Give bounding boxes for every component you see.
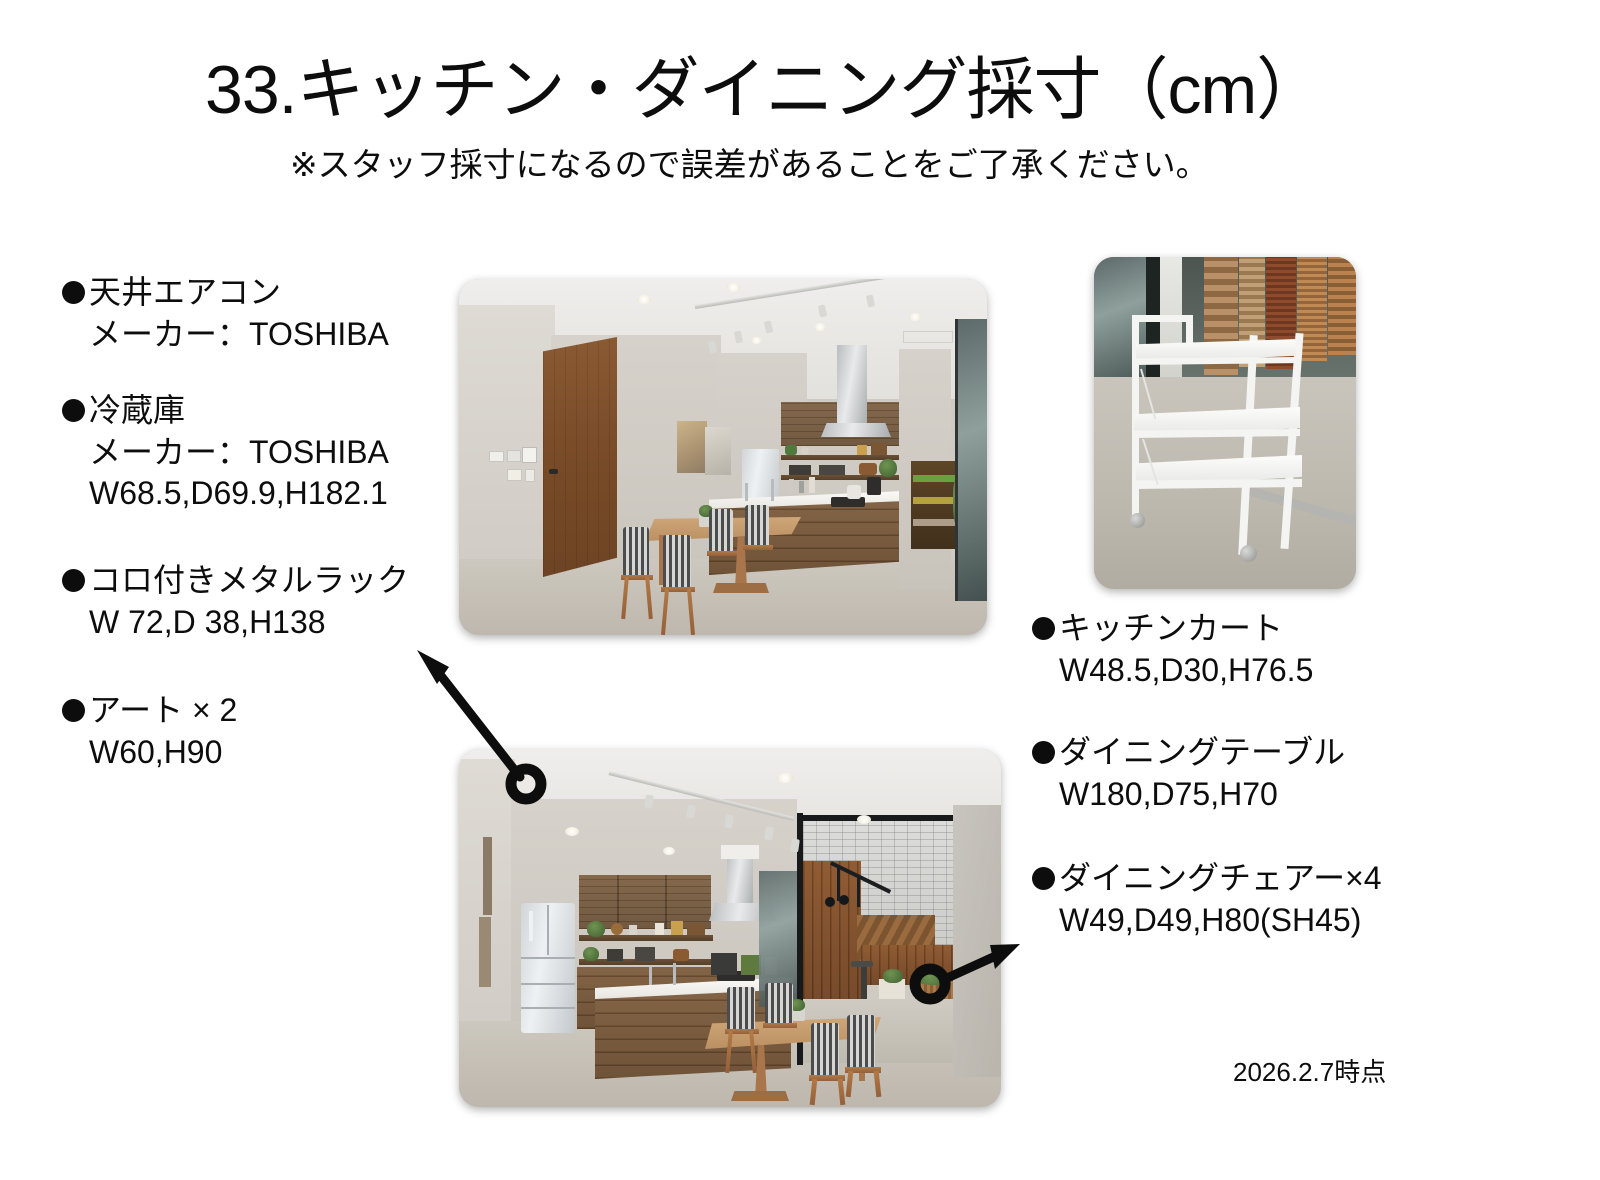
bullet-dot-icon [62,399,85,422]
page-subtitle: ※スタッフ採寸になるので誤差があることをご了承ください。 [290,148,1209,181]
spec-name: ダイニングチェアー×4 [1059,858,1382,900]
spec-name: 冷蔵庫 [89,390,185,432]
spec-refrigerator: 冷蔵庫 メーカー：TOSHIBA W68.5,D69.9,H182.1 [62,390,389,515]
bullet-dot-icon [1032,867,1055,890]
spec-name: キッチンカート [1059,608,1283,650]
spec-dining-chair: ダイニングチェアー×4 W49,D49,H80(SH45) [1032,858,1382,941]
spec-dining-table: ダイニングテーブル W180,D75,H70 [1032,732,1345,815]
spec-heading: アート × 2 [62,690,237,732]
spec-line: メーカー：TOSHIBA [62,432,389,474]
spec-line: W180,D75,H70 [1032,774,1345,816]
page-title: 33.キッチン・ダイニング採寸（cm） [205,56,1323,124]
spec-name: コロ付きメタルラック [89,560,409,602]
photo-kitchen-dining-top [459,279,987,635]
spec-line: W68.5,D69.9,H182.1 [62,473,389,515]
spec-line: W60,H90 [62,732,237,774]
spec-heading: ダイニングチェアー×4 [1032,858,1382,900]
spec-name: 天井エアコン [89,272,281,314]
spec-ceiling-aircon: 天井エアコン メーカー：TOSHIBA [62,272,389,355]
slide-root: 33.キッチン・ダイニング採寸（cm） ※スタッフ採寸になるので誤差があることを… [0,0,1600,1180]
date-note: 2026.2.7時点 [1233,1052,1386,1089]
bullet-dot-icon [62,281,85,304]
spec-heading: 天井エアコン [62,272,389,314]
bullet-dot-icon [62,699,85,722]
photo-kitchen-dining-bottom [459,749,1001,1107]
spec-art: アート × 2 W60,H90 [62,690,237,773]
spec-line: W48.5,D30,H76.5 [1032,650,1313,692]
spec-name: ダイニングテーブル [1059,732,1345,774]
spec-kitchen-cart: キッチンカート W48.5,D30,H76.5 [1032,608,1313,691]
spec-heading: コロ付きメタルラック [62,560,409,602]
spec-heading: 冷蔵庫 [62,390,389,432]
spec-line: メーカー：TOSHIBA [62,314,389,356]
photo-kitchen-cart [1094,257,1356,589]
bullet-dot-icon [1032,617,1055,640]
spec-heading: キッチンカート [1032,608,1313,650]
spec-line: W49,D49,H80(SH45) [1032,900,1382,942]
spec-heading: ダイニングテーブル [1032,732,1345,774]
spec-name: アート × 2 [89,690,237,732]
spec-metal-rack: コロ付きメタルラック W 72,D 38,H138 [62,560,409,643]
bullet-dot-icon [62,569,85,592]
spec-line: W 72,D 38,H138 [62,602,409,644]
bullet-dot-icon [1032,741,1055,764]
